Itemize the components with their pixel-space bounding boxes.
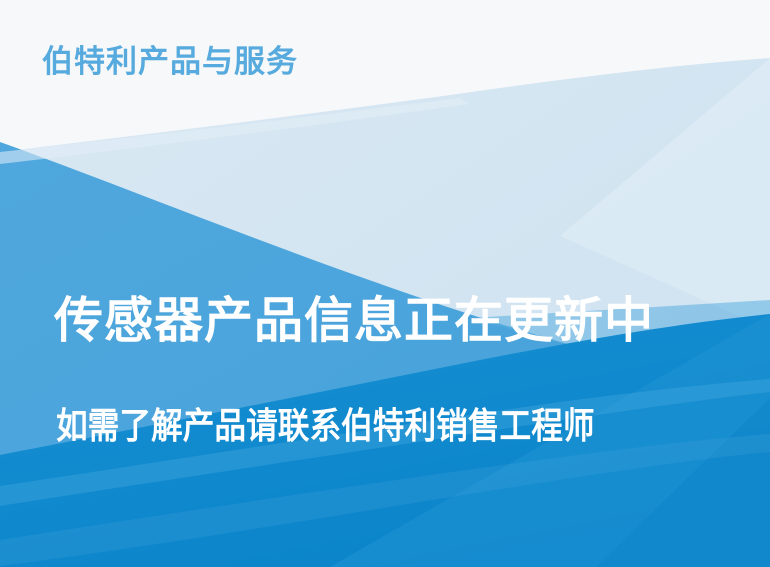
promo-banner: 伯特利产品与服务 传感器产品信息正在更新中 如需了解产品请联系伯特利销售工程师 — [0, 0, 770, 567]
brand-title: 伯特利产品与服务 — [42, 46, 298, 77]
subheadline-text: 如需了解产品请联系伯特利销售工程师 — [56, 408, 595, 444]
headline-text: 传感器产品信息正在更新中 — [54, 297, 654, 346]
banner-content: 伯特利产品与服务 传感器产品信息正在更新中 如需了解产品请联系伯特利销售工程师 — [0, 0, 770, 567]
